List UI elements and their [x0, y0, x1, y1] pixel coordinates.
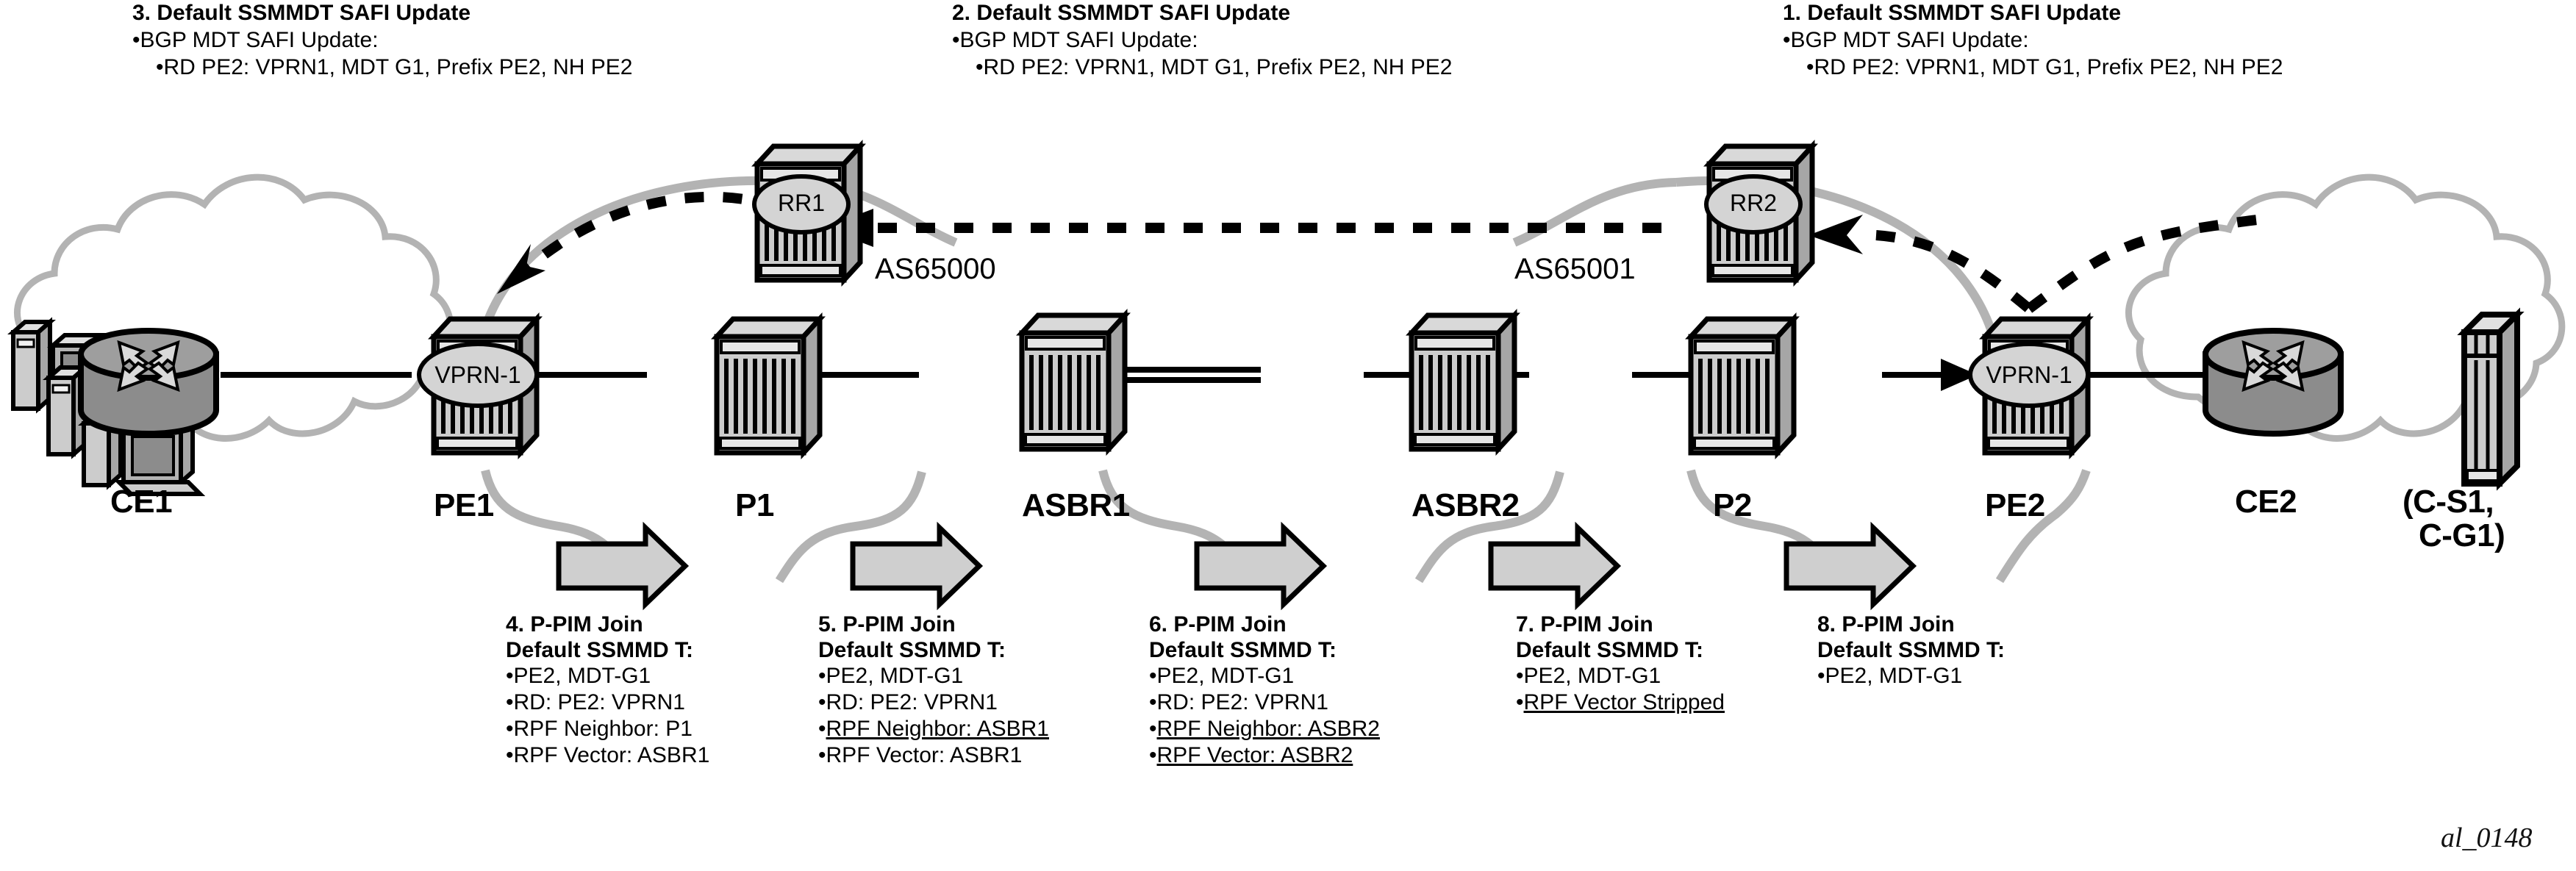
note-8: 8. P-PIM Join Default SSMMD T: PE2, MDT-… [1817, 612, 2005, 689]
note-4-item-3-text: RPF Neighbor: P1 [514, 717, 693, 741]
bgp-arrowhead-rr2 [1808, 215, 1863, 254]
note-2-line-2: RD PE2: VPRN1, MDT G1, Prefix PE2, NH PE… [952, 54, 1452, 81]
note-4-item-4: RPF Vector: ASBR1 [506, 742, 709, 769]
note-4: 4. P-PIM Join Default SSMMD T: PE2, MDT-… [506, 612, 709, 769]
note-3-line-2: RD PE2: VPRN1, MDT G1, Prefix PE2, NH PE… [132, 54, 632, 81]
note-1-line-2: RD PE2: VPRN1, MDT G1, Prefix PE2, NH PE… [1783, 54, 2283, 81]
note-6-item-4-text: RPF Vector: ASBR2 [1157, 743, 1353, 767]
note-8-header: 8. P-PIM Join [1817, 612, 2005, 637]
device-ce2-icon[interactable] [2205, 331, 2341, 434]
note-6-item-1-text: PE2, MDT-G1 [1157, 664, 1295, 688]
note-6-item-2-text: RD: PE2: VPRN1 [1157, 690, 1328, 714]
device-asbr2-icon[interactable] [1412, 315, 1514, 449]
note-5-item-1: PE2, MDT-G1 [818, 663, 1049, 689]
badge-label-rr1: RR1 [754, 190, 848, 217]
note-6-item-1: PE2, MDT-G1 [1149, 663, 1380, 689]
note-1: 1. Default SSMMDT SAFI Update BGP MDT SA… [1783, 0, 2283, 81]
source-group-label-line2: C-G1) [2419, 519, 2505, 553]
note-7-item-1: PE2, MDT-G1 [1516, 663, 1725, 689]
note-2-header: 2. Default SSMMDT SAFI Update [952, 0, 1452, 26]
note-6-item-2: RD: PE2: VPRN1 [1149, 689, 1380, 716]
as-label-right: AS65001 [1514, 254, 1636, 284]
note-5-header2: Default SSMMD T: [818, 637, 1049, 663]
note-6-item-3: RPF Neighbor: ASBR2 [1149, 716, 1380, 742]
note-8-item-1-text: PE2, MDT-G1 [1825, 664, 1963, 688]
pim-join-block-arrows [559, 528, 1913, 604]
note-4-item-1: PE2, MDT-G1 [506, 663, 709, 689]
note-7-item-2-text: RPF Vector Stripped [1524, 690, 1725, 714]
note-3-header: 3. Default SSMMDT SAFI Update [132, 0, 632, 26]
note-5-item-3: RPF Neighbor: ASBR1 [818, 716, 1049, 742]
note-6-item-4: RPF Vector: ASBR2 [1149, 742, 1380, 769]
device-p2-icon[interactable] [1691, 319, 1794, 453]
device-p1-icon[interactable] [717, 319, 820, 453]
device-label-pe2: PE2 [1985, 489, 2045, 523]
device-label-asbr1: ASBR1 [1022, 489, 1130, 523]
server-icon [2464, 315, 2517, 484]
note-4-item-2: RD: PE2: VPRN1 [506, 689, 709, 716]
note-6-header2: Default SSMMD T: [1149, 637, 1380, 663]
note-4-item-3: RPF Neighbor: P1 [506, 716, 709, 742]
device-label-p2: P2 [1713, 489, 1752, 523]
note-6-header: 6. P-PIM Join [1149, 612, 1380, 637]
note-1-line-1: BGP MDT SAFI Update: [1783, 26, 2283, 54]
note-5-item-4: RPF Vector: ASBR1 [818, 742, 1049, 769]
figure-caption: al_0148 [2441, 822, 2533, 854]
note-4-item-2-text: RD: PE2: VPRN1 [514, 690, 685, 714]
device-asbr1-icon[interactable] [1022, 315, 1125, 449]
device-label-pe1: PE1 [434, 489, 494, 523]
badge-label-pe1: VPRN-1 [419, 362, 537, 389]
note-2: 2. Default SSMMDT SAFI Update BGP MDT SA… [952, 0, 1452, 81]
source-group-label-line1: (C-S1, [2403, 485, 2494, 519]
note-4-header: 4. P-PIM Join [506, 612, 709, 637]
note-2-line-1: BGP MDT SAFI Update: [952, 26, 1452, 54]
note-4-item-1-text: PE2, MDT-G1 [514, 664, 651, 688]
note-5-item-2-text: RD: PE2: VPRN1 [826, 690, 998, 714]
device-label-asbr2: ASBR2 [1412, 489, 1520, 523]
as-label-left: AS65000 [875, 254, 996, 284]
note-7-item-2: RPF Vector Stripped [1516, 689, 1725, 716]
note-3-line-1: BGP MDT SAFI Update: [132, 26, 632, 54]
note-7: 7. P-PIM Join Default SSMMD T: PE2, MDT-… [1516, 612, 1725, 716]
badge-label-pe2: VPRN-1 [1970, 362, 2088, 389]
note-5-item-4-text: RPF Vector: ASBR1 [826, 743, 1023, 767]
note-6: 6. P-PIM Join Default SSMMD T: PE2, MDT-… [1149, 612, 1380, 769]
note-6-item-3-text: RPF Neighbor: ASBR2 [1157, 717, 1380, 741]
note-7-header2: Default SSMMD T: [1516, 637, 1725, 663]
note-4-header2: Default SSMMD T: [506, 637, 709, 663]
note-5-item-3-text: RPF Neighbor: ASBR1 [826, 717, 1049, 741]
note-3: 3. Default SSMMDT SAFI Update BGP MDT SA… [132, 0, 632, 81]
note-8-header2: Default SSMMD T: [1817, 637, 2005, 663]
note-5-item-1-text: PE2, MDT-G1 [826, 664, 964, 688]
note-7-header: 7. P-PIM Join [1516, 612, 1725, 637]
device-label-p1: P1 [735, 489, 774, 523]
badge-label-rr2: RR2 [1706, 190, 1800, 217]
note-7-item-1-text: PE2, MDT-G1 [1524, 664, 1661, 688]
note-8-item-1: PE2, MDT-G1 [1817, 663, 2005, 689]
note-5-item-2: RD: PE2: VPRN1 [818, 689, 1049, 716]
device-ce1-icon[interactable] [81, 331, 216, 434]
note-4-item-4-text: RPF Vector: ASBR1 [514, 743, 710, 767]
note-1-header: 1. Default SSMMDT SAFI Update [1783, 0, 2283, 26]
note-5: 5. P-PIM Join Default SSMMD T: PE2, MDT-… [818, 612, 1049, 769]
device-label-ce2: CE2 [2235, 485, 2297, 519]
device-label-ce1: CE1 [110, 485, 172, 519]
note-5-header: 5. P-PIM Join [818, 612, 1049, 637]
